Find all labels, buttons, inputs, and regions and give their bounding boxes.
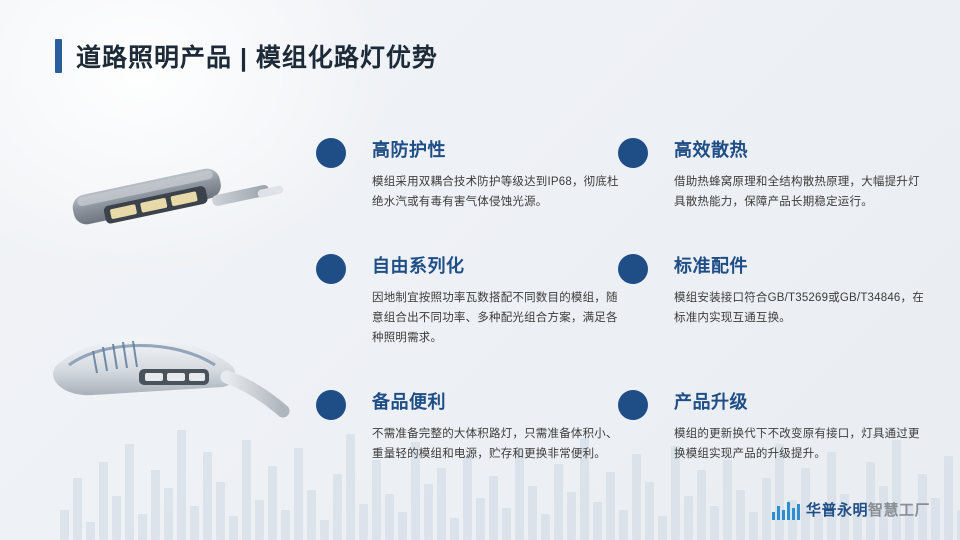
skyline-bar <box>697 470 706 540</box>
logo-primary-text: 华普永明 <box>806 499 868 520</box>
skyline-bar <box>645 482 654 540</box>
feature-item-2: 高效散热 借助热蜂窝原理和全结构散热原理，大幅提升灯具散热能力，保障产品长期稳定… <box>674 136 924 212</box>
feature-heading: 高防护性 <box>372 136 622 162</box>
skyline-bar <box>619 510 628 540</box>
title-text: 道路照明产品 | 模组化路灯优势 <box>76 38 438 74</box>
skyline-bar <box>99 462 108 540</box>
feature-body: 模组采用双耦合技术防护等级达到IP68，彻底杜绝水汽或有毒有害气体侵蚀光源。 <box>372 172 622 212</box>
feature-body: 不需准备完整的大体积路灯，只需准备体积小、重量轻的模组和电源，贮存和更换非常便利… <box>372 424 622 464</box>
skyline-bar <box>125 444 134 540</box>
skyline-bar <box>554 464 563 540</box>
skyline-bar <box>333 474 342 540</box>
skyline-bar <box>489 476 498 540</box>
skyline-bar <box>710 506 719 540</box>
logo-mark-icon <box>772 502 800 520</box>
skyline-bar <box>229 516 238 540</box>
feature-heading: 备品便利 <box>372 388 622 414</box>
brand-logo: 华普永明 智慧工厂 <box>772 499 930 520</box>
feature-body: 模组安装接口符合GB/T35269或GB/T34846，在标准内实现互通互换。 <box>674 288 924 328</box>
skyline-bar <box>567 492 576 540</box>
skyline-bar <box>632 454 641 540</box>
bullet-dot-icon <box>316 390 346 420</box>
slide-root: 道路照明产品 | 模组化路灯优势 <box>0 0 960 540</box>
feature-body: 借助热蜂窝原理和全结构散热原理，大幅提升灯具散热能力，保障产品长期稳定运行。 <box>674 172 924 212</box>
skyline-bar <box>242 440 251 540</box>
skyline-bar <box>294 448 303 540</box>
bullet-dot-icon <box>618 138 648 168</box>
skyline-bar <box>684 496 693 540</box>
skyline-bar <box>307 490 316 540</box>
skyline-bar <box>255 500 264 540</box>
skyline-bar <box>827 452 836 540</box>
feature-item-3: 自由系列化 因地制宜按照功率瓦数搭配不同数目的模组，随意组合出不同功率、多种配光… <box>372 252 622 348</box>
skyline-bar <box>385 494 394 540</box>
logo-secondary-text: 智慧工厂 <box>868 499 930 520</box>
page-title: 道路照明产品 | 模组化路灯优势 <box>55 38 438 74</box>
bullet-dot-icon <box>618 390 648 420</box>
skyline-bar <box>931 498 940 540</box>
skyline-bar <box>762 478 771 540</box>
skyline-bar <box>138 514 147 540</box>
skyline-bar <box>359 504 368 540</box>
skyline-bar <box>86 522 95 540</box>
skyline-bar <box>320 520 329 540</box>
skyline-bar <box>723 460 732 540</box>
skyline-bar <box>736 490 745 540</box>
skyline-bar <box>372 460 381 540</box>
feature-body: 模组的更新换代下不改变原有接口，灯具通过更换模组实现产品的升级提升。 <box>674 424 924 464</box>
bullet-dot-icon <box>316 138 346 168</box>
skyline-bar <box>73 478 82 540</box>
feature-heading: 标准配件 <box>674 252 924 278</box>
skyline-bar <box>60 510 69 540</box>
lamp-bottom-image <box>35 315 290 450</box>
skyline-bar <box>268 466 277 540</box>
skyline-bar <box>190 506 199 540</box>
skyline-bar <box>216 482 225 540</box>
feature-item-5: 备品便利 不需准备完整的大体积路灯，只需准备体积小、重量轻的模组和电源，贮存和更… <box>372 388 622 464</box>
skyline-bar <box>437 468 446 540</box>
skyline-bar <box>346 434 355 540</box>
skyline-bar <box>463 456 472 540</box>
bullet-dot-icon <box>316 254 346 284</box>
title-accent-bar <box>55 39 62 73</box>
skyline-bar <box>528 486 537 540</box>
feature-heading: 高效散热 <box>674 136 924 162</box>
skyline-bar <box>502 508 511 540</box>
skyline-bar <box>424 484 433 540</box>
skyline-bar <box>203 452 212 540</box>
lamp-top-image <box>45 150 285 270</box>
skyline-bar <box>593 502 602 540</box>
skyline-bar <box>112 496 121 540</box>
feature-item-4: 标准配件 模组安装接口符合GB/T35269或GB/T34846，在标准内实现互… <box>674 252 924 328</box>
skyline-bar <box>151 470 160 540</box>
skyline-bar <box>450 518 459 540</box>
skyline-bar <box>164 488 173 540</box>
feature-item-1: 高防护性 模组采用双耦合技术防护等级达到IP68，彻底杜绝水汽或有毒有害气体侵蚀… <box>372 136 622 212</box>
skyline-bar <box>606 472 615 540</box>
feature-body: 因地制宜按照功率瓦数搭配不同数目的模组，随意组合出不同功率、多种配光组合方案，满… <box>372 288 622 348</box>
skyline-bar <box>398 512 407 540</box>
bullet-dot-icon <box>618 254 648 284</box>
feature-heading: 产品升级 <box>674 388 924 414</box>
feature-item-6: 产品升级 模组的更新换代下不改变原有接口，灯具通过更换模组实现产品的升级提升。 <box>674 388 924 464</box>
skyline-bar <box>749 512 758 540</box>
skyline-bar <box>658 516 667 540</box>
skyline-bar <box>944 456 953 540</box>
skyline-bar <box>476 498 485 540</box>
skyline-bar <box>281 510 290 540</box>
skyline-bar <box>541 514 550 540</box>
feature-heading: 自由系列化 <box>372 252 622 278</box>
